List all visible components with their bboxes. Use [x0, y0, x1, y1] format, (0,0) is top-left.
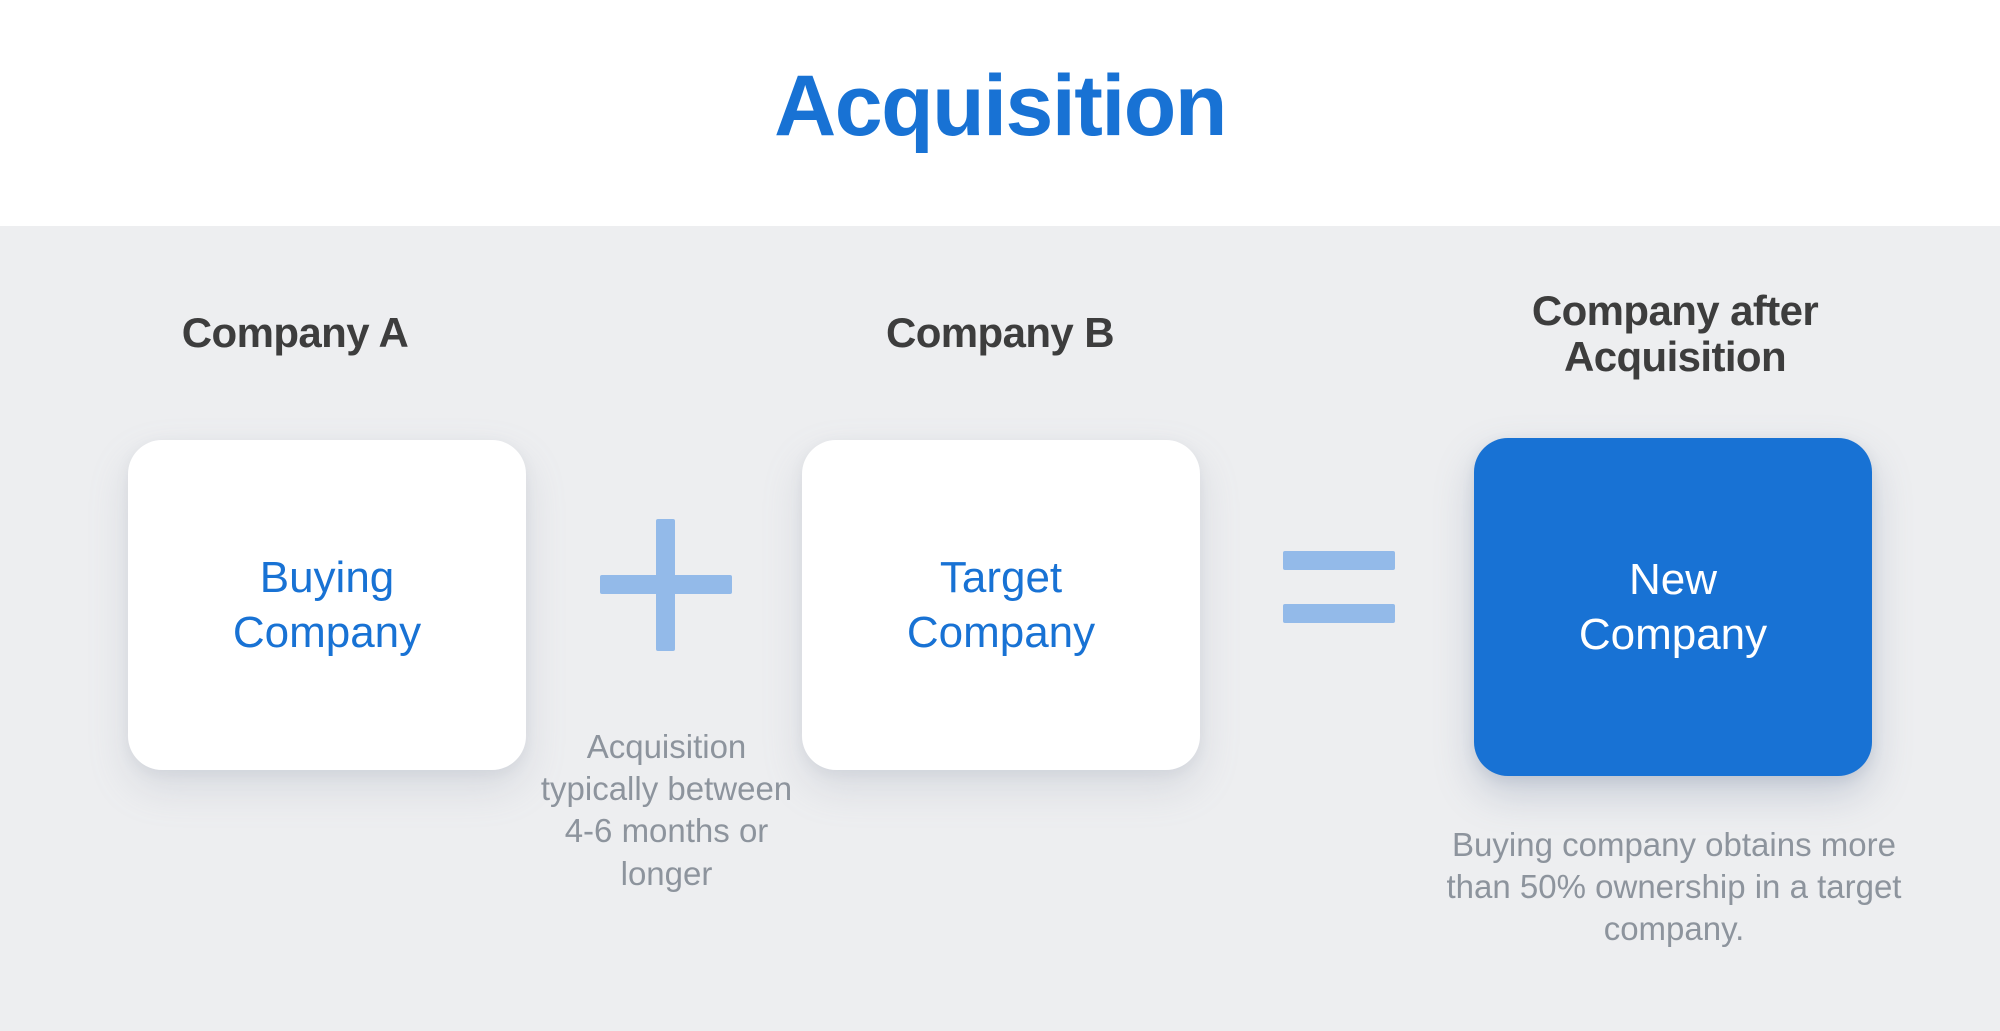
card-new-company[interactable]: New Company — [1474, 438, 1872, 776]
card-buying-company-label: Buying Company — [233, 550, 421, 661]
column-heading-company-b: Company B — [765, 310, 1235, 356]
equals-icon-bottom-bar — [1283, 604, 1395, 623]
column-heading-line1: Company after — [1532, 287, 1818, 334]
card-label-line1: New — [1629, 555, 1717, 604]
card-label-line2: Company — [233, 608, 421, 657]
diagram-body: Company A Company B Company after Acquis… — [0, 226, 2000, 1031]
page-title: Acquisition — [774, 63, 1226, 163]
acquisition-diagram: Acquisition Company A Company B Company … — [0, 0, 2000, 1031]
column-heading-company-a: Company A — [60, 310, 530, 356]
card-label-line1: Buying — [260, 553, 395, 602]
card-target-company[interactable]: Target Company — [802, 440, 1200, 770]
card-buying-company[interactable]: Buying Company — [128, 440, 526, 770]
card-label-line1: Target — [940, 553, 1062, 602]
card-label-line2: Company — [907, 608, 1095, 657]
column-heading-company-after-acquisition: Company after Acquisition — [1440, 288, 1910, 380]
card-new-company-label: New Company — [1579, 552, 1767, 663]
plus-icon-vertical-bar — [656, 519, 675, 651]
header-band: Acquisition — [0, 0, 2000, 226]
caption-ownership-note: Buying company obtains more than 50% own… — [1425, 824, 1923, 951]
equals-icon — [1283, 551, 1395, 623]
equals-icon-top-bar — [1283, 551, 1395, 570]
card-label-line2: Company — [1579, 610, 1767, 659]
plus-icon — [600, 519, 732, 651]
caption-acquisition-duration: Acquisition typically between 4-6 months… — [539, 726, 794, 895]
card-target-company-label: Target Company — [907, 550, 1095, 661]
column-heading-line2: Acquisition — [1564, 333, 1786, 380]
